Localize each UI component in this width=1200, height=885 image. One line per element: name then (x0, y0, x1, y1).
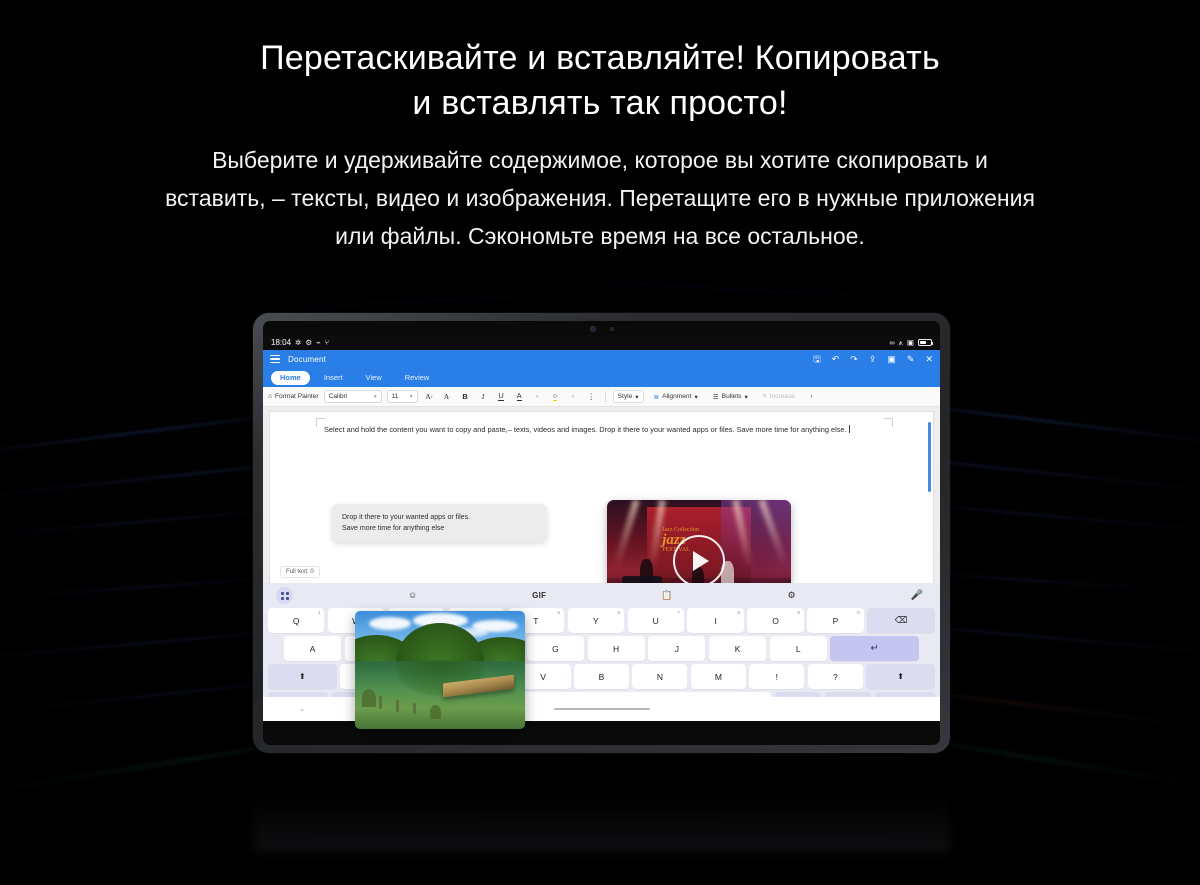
key-g[interactable]: G (527, 636, 584, 661)
format-painter-label: Format Painter (275, 393, 319, 400)
bullets-button[interactable]: ☰ Bullets ▾ (708, 390, 753, 403)
app-grid-icon[interactable] (276, 587, 293, 604)
redo-icon[interactable]: ↷ (850, 355, 858, 364)
key-superscript: 8 (737, 610, 740, 615)
subhead-line-2: вставить, – тексты, видео и изображения.… (8, 179, 1192, 217)
style-label: Style (618, 393, 633, 400)
italic-button[interactable]: I (477, 390, 490, 403)
promo-page: Перетаскивайте и вставляйте! Копировать … (0, 0, 1200, 885)
water-post (379, 696, 382, 709)
stage-beam-icon (612, 500, 639, 568)
shift-key-left[interactable]: ⬆ (268, 664, 337, 689)
shrink-font-button[interactable]: A- (441, 390, 454, 403)
font-color-dropdown-icon[interactable]: ▾ (531, 390, 544, 403)
font-color-label: A (517, 392, 522, 401)
document-body-line-2: images. Drop it there to your wanted app… (571, 425, 846, 434)
alignment-label: Alignment (662, 393, 691, 400)
key-label: P (833, 616, 839, 626)
document-page[interactable]: Select and hold the content you want to … (270, 412, 933, 583)
highlight-label: ○ (553, 392, 558, 401)
font-name-select[interactable]: Calibri ▾ (324, 390, 382, 403)
key-superscript: 1 (318, 610, 321, 615)
shift-key-right[interactable]: ⬆ (866, 664, 935, 689)
chevron-down-icon: ▾ (635, 393, 638, 401)
subhead-line-1: Выберите и удерживайте содержимое, котор… (8, 141, 1192, 179)
tab-insert[interactable]: Insert (315, 371, 352, 385)
bullets-label: Bullets (722, 393, 742, 400)
drag-card-line-2: Save more time for anything else (342, 523, 537, 534)
underline-label: U (498, 392, 503, 401)
highlight-button[interactable]: ○ (549, 390, 562, 403)
headline-line-1: Перетаскивайте и вставляйте! Копировать (0, 36, 1200, 81)
tab-home[interactable]: Home (271, 371, 310, 385)
key-superscript: 9 (797, 610, 800, 615)
key-k[interactable]: K (709, 636, 766, 661)
save-icon[interactable]: 🖫 (813, 355, 821, 364)
increase-label: Increase (770, 393, 795, 400)
key-label: U (653, 616, 659, 626)
key-superscript: 6 (617, 610, 620, 615)
font-name-value: Calibri (329, 393, 348, 400)
play-triangle-icon (693, 551, 709, 571)
ribbon-overflow-icon[interactable]: › (805, 390, 818, 403)
align-icon: ≣ (654, 393, 660, 401)
style-button[interactable]: Style ▾ (613, 390, 644, 403)
edit-icon[interactable]: ✎ (907, 355, 915, 364)
headline-line-2: и вставлять так просто! (0, 81, 1200, 126)
tablet-reflection (253, 757, 950, 852)
key-exclamation[interactable]: ! (749, 664, 804, 689)
key-o[interactable]: O9 (747, 608, 803, 633)
key-q[interactable]: Q1 (268, 608, 324, 633)
video-thumbnail-card[interactable]: Jazz Collection jazz FESTIVAL (607, 500, 791, 583)
ribbon-divider (605, 391, 606, 402)
chevron-down-icon: ▾ (374, 394, 377, 400)
microphone-icon[interactable]: 🎤 (911, 591, 923, 601)
tab-review[interactable]: Review (396, 371, 439, 385)
tablet-device: 18:04 ✲ ⚙ ⌁ ⑂ ∞ ⩚ ▣ (253, 313, 950, 753)
key-h[interactable]: H (588, 636, 645, 661)
comment-icon[interactable]: ▣ (887, 355, 896, 364)
key-i[interactable]: I8 (687, 608, 743, 633)
piano-silhouette (622, 576, 662, 583)
app-header-actions: 🖫 ↶ ↷ ⇪ ▣ ✎ ✕ (813, 355, 933, 364)
subhead-line-3: или файлы. Сэкономьте время на все остал… (8, 217, 1192, 255)
bluetooth-icon: ✲ (295, 339, 301, 347)
reed-grass (362, 689, 376, 707)
highlight-dropdown-icon[interactable]: ▾ (567, 390, 580, 403)
keyboard-toolbar: ☺ GIF 📋 ⚙ 🎤 (268, 586, 935, 605)
key-p[interactable]: P0 (807, 608, 863, 633)
tablet-bezel: 18:04 ✲ ⚙ ⌁ ⑂ ∞ ⩚ ▣ (263, 321, 940, 745)
vertical-scrollbar[interactable] (928, 422, 931, 492)
bold-button[interactable]: B (459, 390, 472, 403)
increase-indent-button: ≡ Increase (758, 390, 800, 403)
key-a[interactable]: A (284, 636, 341, 661)
document-body-line-1: Select and hold the content you want to … (324, 425, 569, 434)
sensor-icon (610, 327, 614, 331)
chevron-down-icon: ▾ (744, 393, 747, 401)
status-bar-left: 18:04 ✲ ⚙ ⌁ ⑂ (271, 338, 329, 347)
gif-icon[interactable]: GIF (532, 592, 546, 600)
key-n[interactable]: N (632, 664, 687, 689)
key-l[interactable]: L (770, 636, 827, 661)
water-post (413, 703, 416, 714)
gear-icon: ⚙ (305, 339, 312, 347)
font-size-value: 11 (392, 393, 399, 400)
key-b[interactable]: B (574, 664, 629, 689)
font-color-button[interactable]: A (513, 390, 526, 403)
indent-icon: ≡ (763, 393, 767, 400)
font-size-select[interactable]: 11 ▾ (387, 390, 418, 403)
app-header: Document 🖫 ↶ ↷ ⇪ ▣ ✎ ✕ (263, 350, 940, 368)
key-y[interactable]: Y6 (568, 608, 624, 633)
close-icon[interactable]: ✕ (925, 355, 933, 364)
battery-icon (918, 339, 932, 346)
sim-icon: ▣ (907, 339, 914, 347)
chevron-down-icon: ▾ (694, 393, 697, 401)
undo-icon[interactable]: ↶ (832, 355, 840, 364)
drag-card-line-1: Drop it there to your wanted apps or fil… (342, 512, 537, 523)
key-label: I (714, 616, 716, 626)
key-label: T (533, 616, 538, 626)
camera-lens-icon (590, 326, 596, 332)
key-label: Y (593, 616, 599, 626)
location-icon: ⌁ (316, 339, 321, 347)
format-painter-button[interactable]: ⌂ Format Painter (268, 393, 319, 400)
underline-button[interactable]: U (495, 390, 508, 403)
key-m[interactable]: M (691, 664, 746, 689)
drag-preview-card[interactable]: Drop it there to your wanted apps or fil… (332, 504, 547, 542)
alignment-button[interactable]: ≣ Alignment ▾ (649, 390, 703, 403)
link-icon: ∞ (889, 339, 894, 347)
sticker-icon[interactable]: ☺ (408, 591, 417, 600)
status-badge: Full text: 0 (280, 566, 320, 578)
document-body-text[interactable]: Select and hold the content you want to … (308, 424, 899, 436)
more-options-icon[interactable]: ⋮ (585, 390, 598, 403)
chevron-down-icon: ▾ (410, 394, 413, 400)
tablet-screen: 18:04 ✲ ⚙ ⌁ ⑂ ∞ ⩚ ▣ (263, 335, 940, 721)
settings-gear-icon[interactable]: ⚙ (787, 591, 795, 600)
water-post (396, 700, 399, 712)
wifi-icon: ⩚ (899, 339, 903, 347)
grow-font-button[interactable]: A+ (423, 390, 436, 403)
status-time: 18:04 (271, 338, 291, 347)
keyboard-toolbar-items: ☺ GIF 📋 ⚙ (293, 591, 911, 600)
cloud-shape (369, 617, 411, 630)
clipboard-icon[interactable]: 📋 (661, 591, 672, 600)
bullet-list-icon: ☰ (713, 393, 719, 401)
hamburger-icon[interactable] (270, 355, 280, 363)
status-bar-right: ∞ ⩚ ▣ (889, 339, 932, 347)
paint-brush-icon: ⌂ (268, 393, 272, 400)
key-label: Q (293, 616, 300, 626)
key-superscript: 5 (558, 610, 561, 615)
do-not-disturb-icon: ⑂ (325, 339, 330, 347)
reed-grass (430, 705, 441, 719)
format-ribbon: ⌂ Format Painter Calibri ▾ 11 ▾ A+ A- B … (263, 387, 940, 407)
document-title: Document (288, 355, 326, 364)
key-j[interactable]: J (648, 636, 705, 661)
share-icon[interactable]: ⇪ (869, 355, 877, 364)
key-label: O (772, 616, 779, 626)
chevron-down-icon[interactable]: ⌄ (299, 705, 305, 713)
page-title: Перетаскивайте и вставляйте! Копировать … (0, 36, 1200, 126)
front-camera (590, 326, 614, 332)
key-question[interactable]: ? (808, 664, 863, 689)
tab-view[interactable]: View (357, 371, 391, 385)
dragged-image-preview[interactable] (355, 611, 525, 729)
home-indicator[interactable] (554, 708, 650, 711)
play-button[interactable] (673, 535, 725, 583)
key-u[interactable]: U7 (628, 608, 684, 633)
enter-key[interactable]: ↵ (830, 636, 919, 661)
backspace-key[interactable]: ⌫ (867, 608, 935, 633)
key-superscript: 0 (857, 610, 860, 615)
status-bar: 18:04 ✲ ⚙ ⌁ ⑂ ∞ ⩚ ▣ (263, 335, 940, 350)
document-area: Select and hold the content you want to … (263, 407, 940, 583)
key-superscript: 7 (677, 610, 680, 615)
text-cursor (849, 425, 850, 433)
page-subtitle: Выберите и удерживайте содержимое, котор… (0, 141, 1200, 255)
ribbon-tabs: Home Insert View Review (263, 368, 940, 387)
app-header-left: Document (270, 355, 326, 364)
